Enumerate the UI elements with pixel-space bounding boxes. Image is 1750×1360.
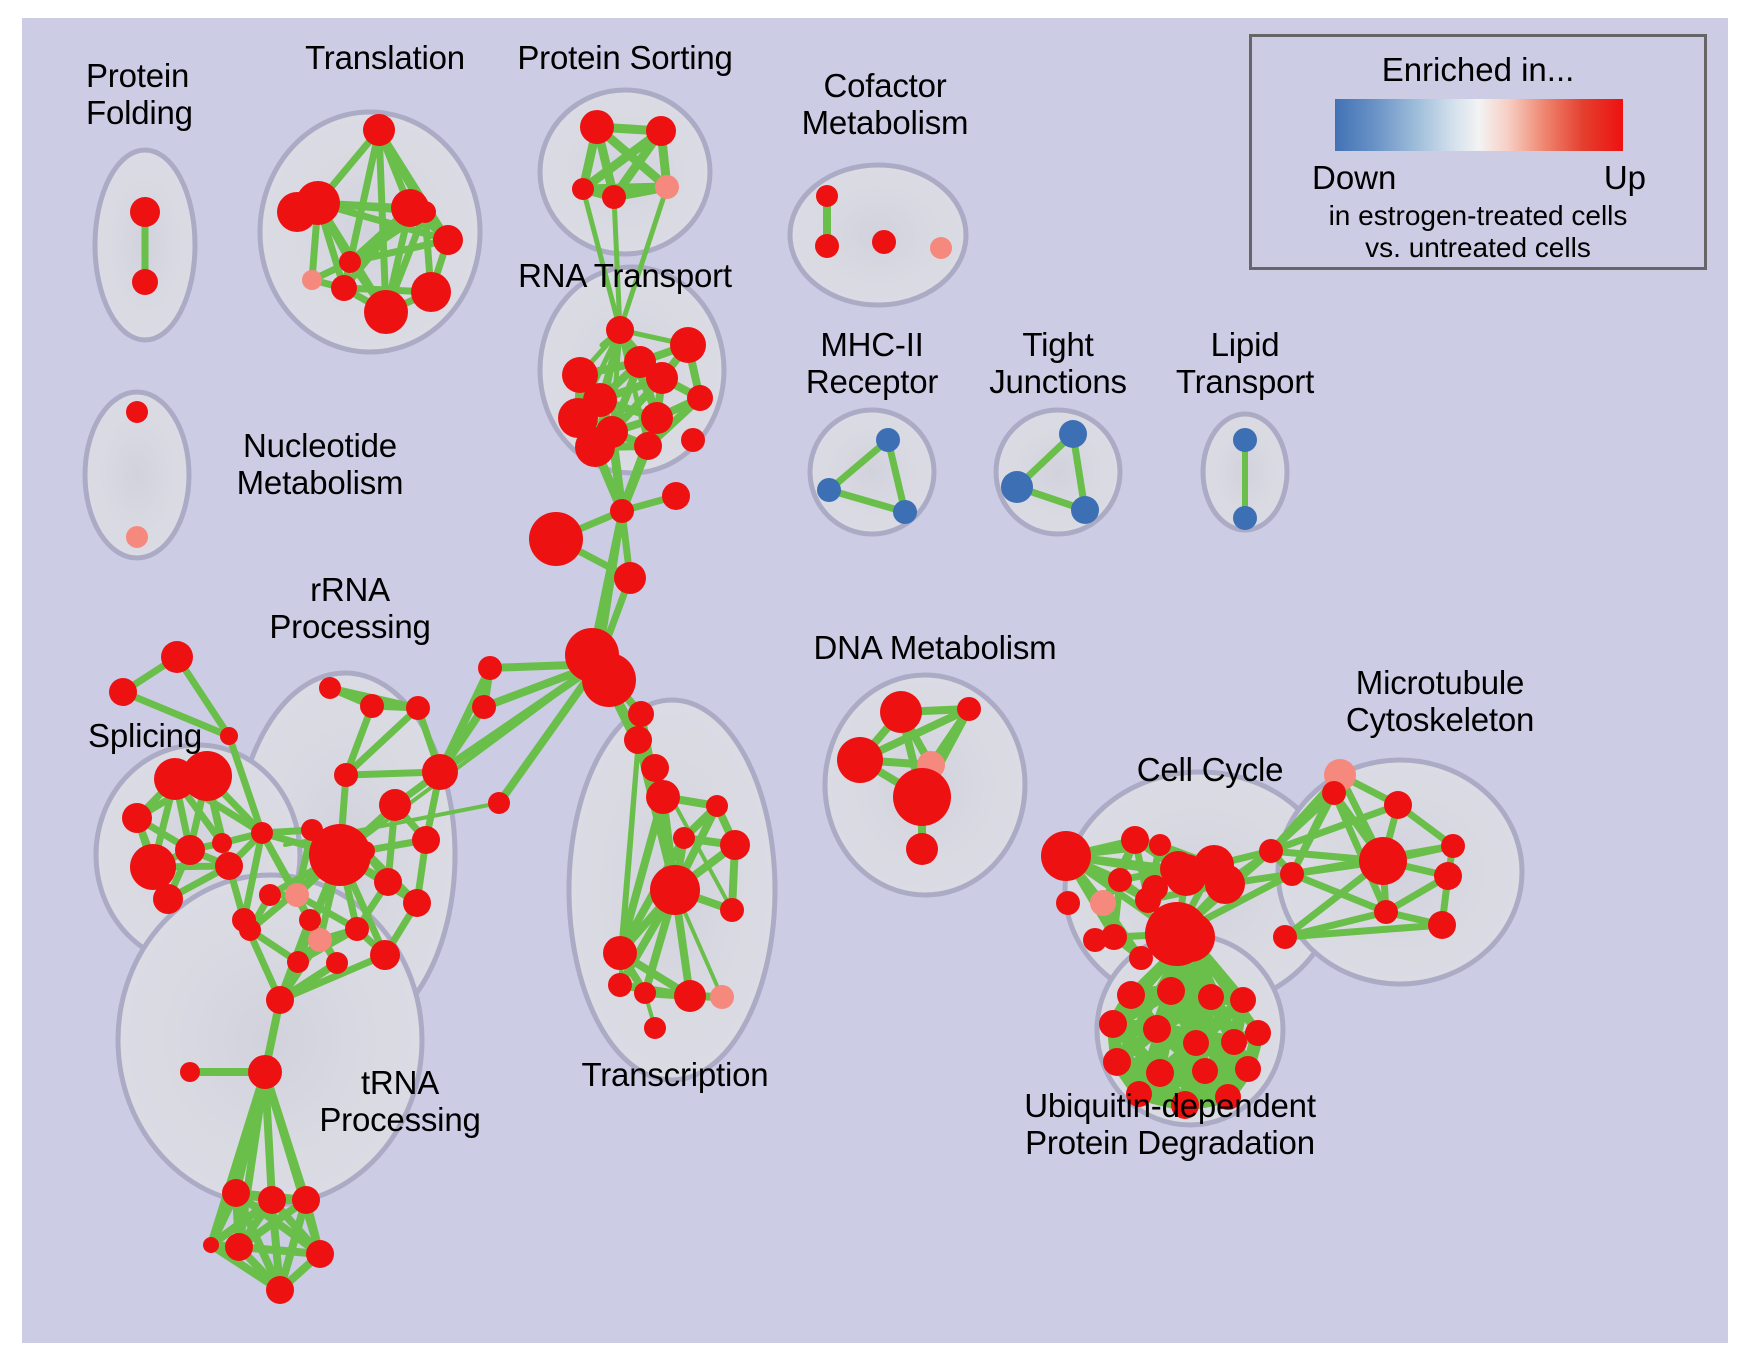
node [906, 833, 938, 865]
node [1056, 891, 1080, 915]
node [1374, 900, 1398, 924]
node [153, 884, 183, 914]
node [1149, 834, 1171, 856]
node [266, 1276, 294, 1304]
node [132, 269, 158, 295]
node [634, 982, 656, 1004]
node [292, 1186, 320, 1214]
node [1221, 1029, 1247, 1055]
legend-up-label: Up [1604, 159, 1646, 197]
node [706, 795, 728, 817]
node [880, 691, 922, 733]
node [339, 251, 361, 273]
node [478, 656, 502, 680]
node [720, 830, 750, 860]
node [331, 275, 357, 301]
legend-down-label: Down [1312, 159, 1396, 197]
node [326, 952, 348, 974]
node [710, 985, 734, 1009]
node [319, 677, 341, 699]
node [1441, 834, 1465, 858]
node [220, 727, 238, 745]
node [816, 185, 838, 207]
node [259, 884, 281, 906]
node [614, 562, 646, 594]
node [411, 272, 451, 312]
node [299, 909, 321, 931]
node [248, 1055, 282, 1089]
node [302, 270, 322, 290]
node [634, 432, 662, 460]
legend-title: Enriched in... [1252, 51, 1704, 89]
node [1103, 1048, 1131, 1076]
node [529, 512, 583, 566]
node [644, 1017, 666, 1039]
node [182, 751, 232, 801]
node [817, 478, 841, 502]
node [251, 822, 273, 844]
node [1235, 1056, 1261, 1082]
node [1198, 984, 1224, 1010]
node [837, 737, 883, 783]
node [893, 500, 917, 524]
node [606, 316, 634, 344]
node [1117, 981, 1145, 1009]
node [232, 908, 256, 932]
node [572, 178, 594, 200]
node [893, 768, 951, 826]
node [287, 951, 309, 973]
node [603, 936, 637, 970]
node [1359, 837, 1407, 885]
node [1059, 420, 1087, 448]
legend-box: Enriched in... Down Up in estrogen-treat… [1249, 34, 1707, 270]
node [582, 653, 636, 707]
node [203, 1237, 219, 1253]
node [673, 827, 695, 849]
node [130, 197, 160, 227]
node [1280, 862, 1304, 886]
node [1273, 925, 1297, 949]
node [1121, 826, 1149, 854]
node [1322, 781, 1346, 805]
node [602, 185, 626, 209]
node [126, 401, 148, 423]
node [1090, 890, 1116, 916]
node [130, 844, 176, 890]
node [1143, 1015, 1171, 1043]
node [414, 201, 436, 223]
node [126, 526, 148, 548]
node [222, 1179, 250, 1207]
node [308, 928, 332, 952]
node [1233, 428, 1257, 452]
node [1384, 791, 1412, 819]
node [662, 482, 690, 510]
node [122, 803, 152, 833]
node [161, 641, 193, 673]
node [1041, 831, 1091, 881]
node [1245, 1020, 1271, 1046]
node [815, 234, 839, 258]
legend-color-gradient-bar [1335, 99, 1623, 151]
node [403, 889, 431, 917]
node [412, 826, 440, 854]
node [364, 290, 408, 334]
legend-sublabel: in estrogen-treated cells vs. untreated … [1252, 200, 1704, 265]
node [285, 883, 309, 907]
node [175, 835, 205, 865]
node [687, 385, 713, 411]
node [1233, 506, 1257, 530]
node [674, 980, 706, 1012]
node [1230, 987, 1256, 1013]
node [608, 973, 632, 997]
node [1434, 862, 1462, 890]
node [646, 780, 680, 814]
node [1126, 1081, 1152, 1107]
node [641, 402, 673, 434]
node [957, 697, 981, 721]
node [374, 868, 402, 896]
node [1099, 1010, 1127, 1038]
node [670, 327, 706, 363]
node [681, 428, 705, 452]
node [1165, 912, 1215, 962]
node [334, 763, 358, 787]
node [363, 114, 395, 146]
node [1183, 1030, 1209, 1056]
node [575, 427, 615, 467]
node [1205, 864, 1245, 904]
node [655, 175, 679, 199]
node [180, 1062, 200, 1082]
node [433, 225, 463, 255]
node [1428, 911, 1456, 939]
node [562, 357, 598, 393]
node [1171, 1091, 1199, 1119]
node [277, 192, 317, 232]
node [212, 833, 232, 853]
node [1192, 1058, 1218, 1084]
node [624, 346, 656, 378]
node [1259, 839, 1283, 863]
node [641, 754, 669, 782]
node [1142, 875, 1168, 901]
node [720, 898, 744, 922]
node [1071, 496, 1099, 524]
node [650, 865, 700, 915]
node [360, 694, 384, 718]
node [258, 1186, 286, 1214]
node [1083, 928, 1107, 952]
node [215, 852, 243, 880]
node [422, 754, 458, 790]
node [580, 110, 614, 144]
node [1108, 868, 1132, 892]
node [1146, 1059, 1174, 1087]
node [610, 499, 634, 523]
node [266, 986, 294, 1014]
node [1157, 977, 1185, 1005]
node [624, 726, 652, 754]
node [1001, 471, 1033, 503]
node [309, 824, 371, 886]
node [1215, 1084, 1241, 1110]
node [628, 701, 654, 727]
node [379, 789, 411, 821]
enrichment-map-figure: Protein Folding Translation Protein Sort… [0, 0, 1750, 1360]
node [109, 678, 137, 706]
node [930, 237, 952, 259]
hull-protein-sorting [540, 90, 710, 254]
node [646, 116, 676, 146]
node [872, 230, 896, 254]
node [472, 695, 496, 719]
node [345, 917, 369, 941]
node [876, 428, 900, 452]
node [406, 696, 430, 720]
node [225, 1233, 253, 1261]
node [306, 1240, 334, 1268]
node [370, 940, 400, 970]
node [488, 792, 510, 814]
